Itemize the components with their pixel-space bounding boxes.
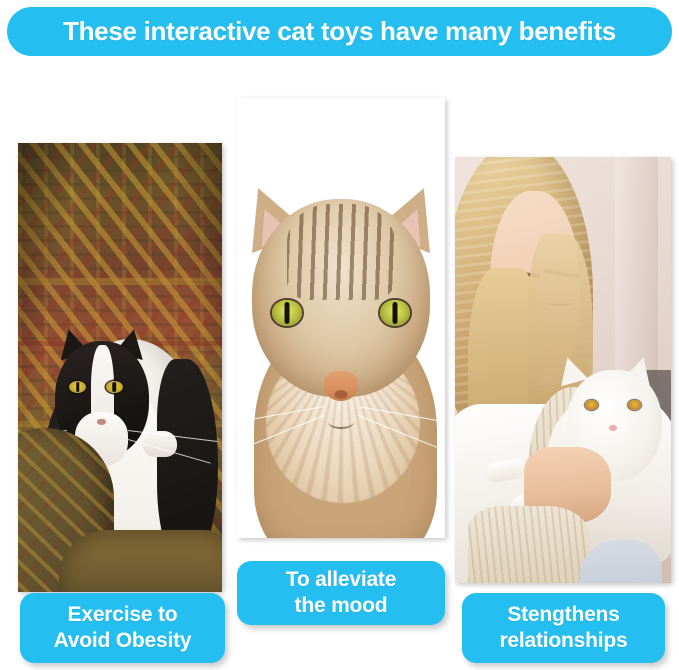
tabby-cat-nose <box>324 371 358 401</box>
caption-left-text-block: Exercise to Avoid Obesity <box>54 602 192 653</box>
white-cat-left-eye <box>585 400 598 410</box>
caption-stengthens-relationships: Stengthens relationships <box>462 593 665 663</box>
photo-tuxedo-cat-on-armchair <box>18 143 222 592</box>
caption-right-line-1: Stengthens <box>507 603 619 626</box>
caption-to-alleviate-the-mood: To alleviate the mood <box>237 561 445 625</box>
photo-tabby-cat-portrait <box>237 98 445 538</box>
photo-right-content <box>455 157 671 583</box>
photo-woman-holding-white-cat <box>455 157 671 583</box>
tabby-cat-forehead-stripes <box>287 204 395 301</box>
tuxedo-cat-right-eye <box>106 381 123 393</box>
tabby-cat-right-eye <box>380 300 410 326</box>
tuxedo-cat-left-eye <box>69 381 86 393</box>
photo-left-content <box>18 143 222 592</box>
white-cat-right-eye <box>628 400 641 410</box>
caption-middle-line-1: To alleviate <box>286 568 396 591</box>
tuxedo-cat-nose <box>97 419 106 425</box>
headline-text: These interactive cat toys have many ben… <box>63 16 616 47</box>
caption-left-line-2: Avoid Obesity <box>54 629 192 652</box>
caption-right-text-block: Stengthens relationships <box>499 602 627 653</box>
headline-banner: These interactive cat toys have many ben… <box>7 7 672 56</box>
caption-exercise-to-avoid-obesity: Exercise to Avoid Obesity <box>20 593 225 663</box>
infographic-page: These interactive cat toys have many ben… <box>0 0 679 670</box>
armchair-cushion <box>59 530 222 592</box>
woman-sleeved-arm <box>468 506 589 583</box>
photo-middle-content <box>237 98 445 538</box>
caption-middle-line-2: the mood <box>295 594 388 617</box>
caption-middle-text-block: To alleviate the mood <box>286 567 396 618</box>
caption-left-line-1: Exercise to <box>68 603 178 626</box>
caption-right-line-2: relationships <box>499 629 627 652</box>
tabby-cat-mouth <box>328 415 354 429</box>
